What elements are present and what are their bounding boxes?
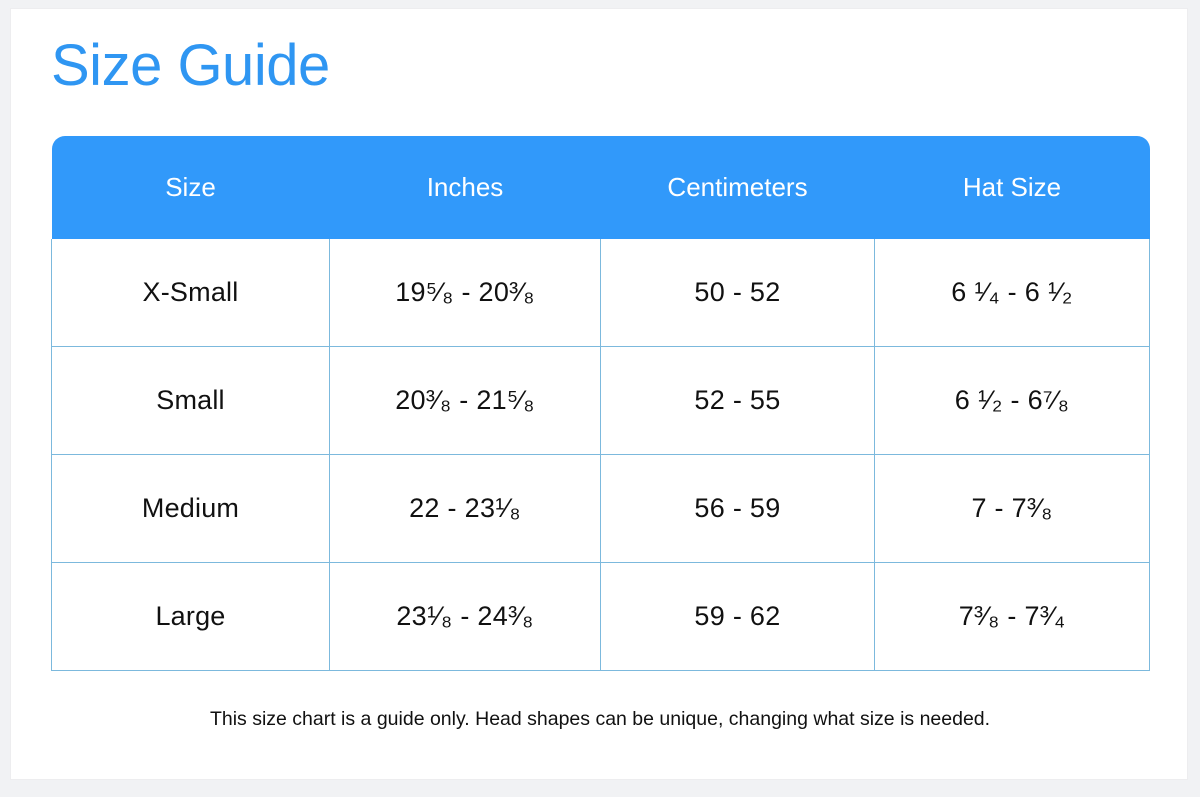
hat-size-value: 7 - 7³⁄₈ (971, 493, 1052, 524)
cell-hat-size: 7³⁄₈ - 7³⁄₄ (875, 563, 1150, 671)
inches-value: 23¹⁄₈ - 24³⁄₈ (396, 601, 533, 632)
table-row: Large 23¹⁄₈ - 24³⁄₈ 59 - 62 7³⁄₈ - 7³⁄₄ (52, 563, 1150, 671)
size-chart-disclaimer: This size chart is a guide only. Head sh… (51, 706, 1149, 732)
cell-centimeters: 50 - 52 (601, 239, 875, 347)
cell-inches: 22 - 23¹⁄₈ (330, 455, 601, 563)
centimeters-value: 52 - 55 (694, 385, 780, 416)
size-label: X-Small (143, 277, 239, 307)
size-guide-card: Size Guide Size Inches Centimeters Hat S… (10, 8, 1188, 780)
page-title: Size Guide (51, 33, 330, 99)
hat-size-value: 6 ¹⁄₄ - 6 ¹⁄₂ (951, 277, 1072, 308)
table-row: Small 20³⁄₈ - 21⁵⁄₈ 52 - 55 6 ¹⁄₂ - 6⁷⁄₈ (52, 347, 1150, 455)
table-body: X-Small 19⁵⁄₈ - 20³⁄₈ 50 - 52 6 ¹⁄₄ - 6 … (52, 239, 1150, 671)
cell-size: Large (52, 563, 330, 671)
cell-inches: 23¹⁄₈ - 24³⁄₈ (330, 563, 601, 671)
column-header-inches: Inches (330, 136, 601, 239)
centimeters-value: 59 - 62 (694, 601, 780, 632)
column-header-centimeters: Centimeters (601, 136, 875, 239)
cell-centimeters: 52 - 55 (601, 347, 875, 455)
size-guide-table: Size Inches Centimeters Hat Size X-Small… (51, 136, 1150, 671)
inches-value: 20³⁄₈ - 21⁵⁄₈ (395, 385, 535, 416)
cell-hat-size: 6 ¹⁄₂ - 6⁷⁄₈ (875, 347, 1150, 455)
hat-size-value: 6 ¹⁄₂ - 6⁷⁄₈ (955, 385, 1070, 416)
size-label: Medium (142, 493, 239, 523)
inches-value: 19⁵⁄₈ - 20³⁄₈ (395, 277, 535, 308)
cell-hat-size: 6 ¹⁄₄ - 6 ¹⁄₂ (875, 239, 1150, 347)
column-header-hat-size: Hat Size (875, 136, 1150, 239)
cell-size: Medium (52, 455, 330, 563)
size-label: Small (156, 385, 225, 415)
cell-size: X-Small (52, 239, 330, 347)
column-header-size: Size (52, 136, 330, 239)
inches-value: 22 - 23¹⁄₈ (409, 493, 521, 524)
cell-hat-size: 7 - 7³⁄₈ (875, 455, 1150, 563)
centimeters-value: 50 - 52 (694, 277, 780, 308)
cell-centimeters: 56 - 59 (601, 455, 875, 563)
cell-centimeters: 59 - 62 (601, 563, 875, 671)
table-row: X-Small 19⁵⁄₈ - 20³⁄₈ 50 - 52 6 ¹⁄₄ - 6 … (52, 239, 1150, 347)
table-header: Size Inches Centimeters Hat Size (52, 136, 1150, 239)
cell-size: Small (52, 347, 330, 455)
cell-inches: 20³⁄₈ - 21⁵⁄₈ (330, 347, 601, 455)
centimeters-value: 56 - 59 (694, 493, 780, 524)
table-row: Medium 22 - 23¹⁄₈ 56 - 59 7 - 7³⁄₈ (52, 455, 1150, 563)
size-label: Large (155, 601, 225, 631)
hat-size-value: 7³⁄₈ - 7³⁄₄ (959, 601, 1066, 632)
table-header-row: Size Inches Centimeters Hat Size (52, 136, 1150, 239)
cell-inches: 19⁵⁄₈ - 20³⁄₈ (330, 239, 601, 347)
